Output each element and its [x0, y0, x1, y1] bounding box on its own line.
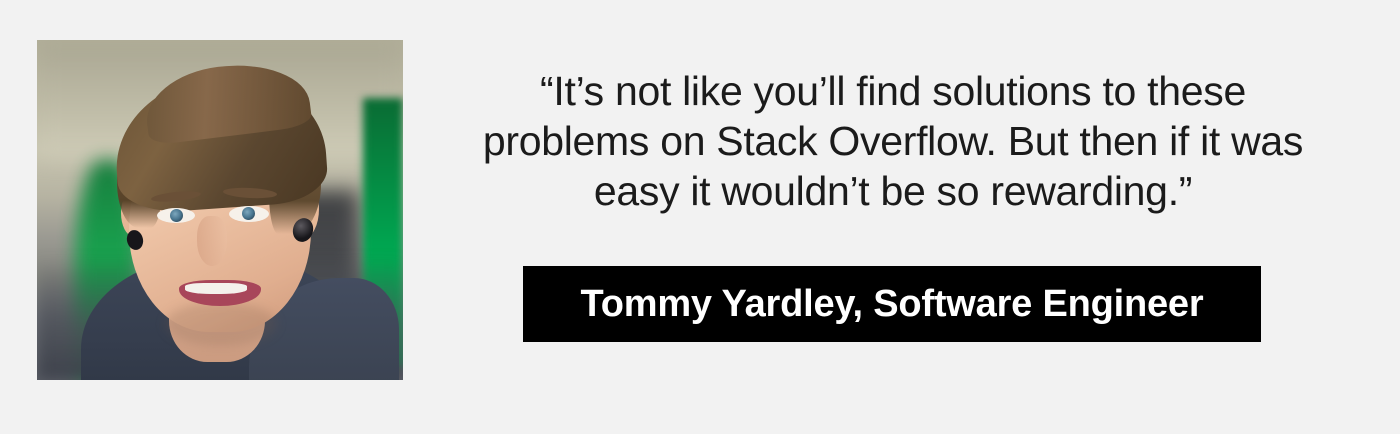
person-eye-right: [229, 206, 269, 222]
portrait-photo-frame: [37, 40, 403, 380]
person-chin-shadow: [165, 302, 277, 346]
attribution-label: Tommy Yardley, Software Engineer: [581, 283, 1204, 326]
testimonial-card: “It’s not like you’ll find solutions to …: [0, 0, 1400, 434]
quote-line-2: problems on Stack Overflow. But then if …: [440, 116, 1346, 166]
person-teeth: [185, 283, 247, 294]
quote-line-3: easy it wouldn’t be so rewarding.”: [440, 166, 1346, 216]
person-eye-left: [157, 208, 195, 223]
person-nose: [197, 216, 227, 266]
portrait-photo: [37, 40, 403, 380]
quote-block: “It’s not like you’ll find solutions to …: [440, 66, 1346, 216]
quote-line-1: “It’s not like you’ll find solutions to …: [440, 66, 1346, 116]
person-iris-right: [242, 207, 255, 220]
person-iris-left: [170, 209, 183, 222]
attribution-banner: Tommy Yardley, Software Engineer: [523, 266, 1261, 342]
